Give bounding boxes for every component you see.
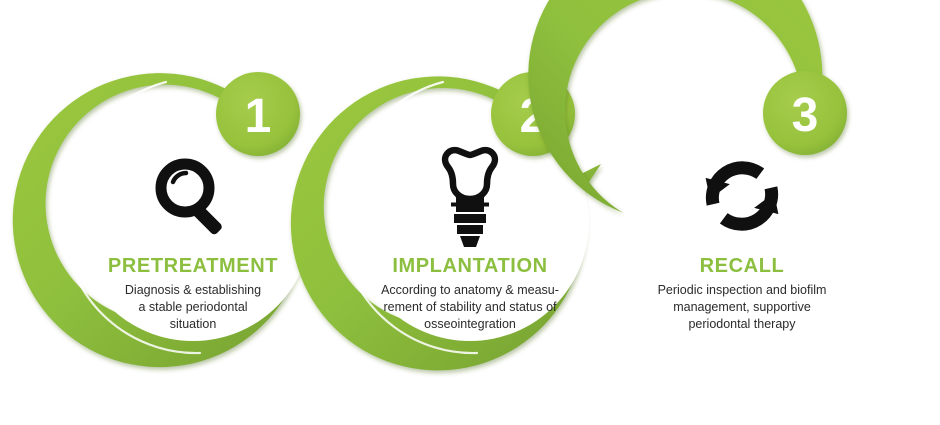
step-3-desc-line-3: periodontal therapy xyxy=(688,317,796,331)
step-2-desc-line-2: rement of stability and status of xyxy=(383,300,557,314)
step-3-title: RECALL xyxy=(700,255,785,277)
step-2-desc-line-1: According to anatomy & measu- xyxy=(381,283,559,297)
step-1-group[interactable]: 1 PRETREATMENT Diagnosis & establishing … xyxy=(13,72,324,367)
step-2-desc-line-3: osseointegration xyxy=(424,317,516,331)
infographic-root: 1 PRETREATMENT Diagnosis & establishing … xyxy=(0,0,940,425)
step-1-badge-number: 1 xyxy=(245,90,272,143)
step-3-group[interactable]: 3 RECALL Periodic inspection and biofilm… xyxy=(528,0,867,355)
step-2-title: IMPLANTATION xyxy=(392,255,547,277)
step-1-desc-line-1: Diagnosis & establishing xyxy=(125,283,261,297)
step-3-desc-line-2: management, supportive xyxy=(673,300,811,314)
step-3-badge[interactable]: 3 xyxy=(763,71,847,155)
step-1-desc-line-3: situation xyxy=(170,317,217,331)
step-3-desc-line-1: Periodic inspection and biofilm xyxy=(658,283,827,297)
step-1-badge[interactable]: 1 xyxy=(216,72,300,156)
infographic-canvas: 1 PRETREATMENT Diagnosis & establishing … xyxy=(0,0,940,425)
step-1-desc-line-2: a stable periodontal xyxy=(138,300,247,314)
step-1-title: PRETREATMENT xyxy=(108,255,278,277)
step-3-badge-number: 3 xyxy=(792,89,819,142)
